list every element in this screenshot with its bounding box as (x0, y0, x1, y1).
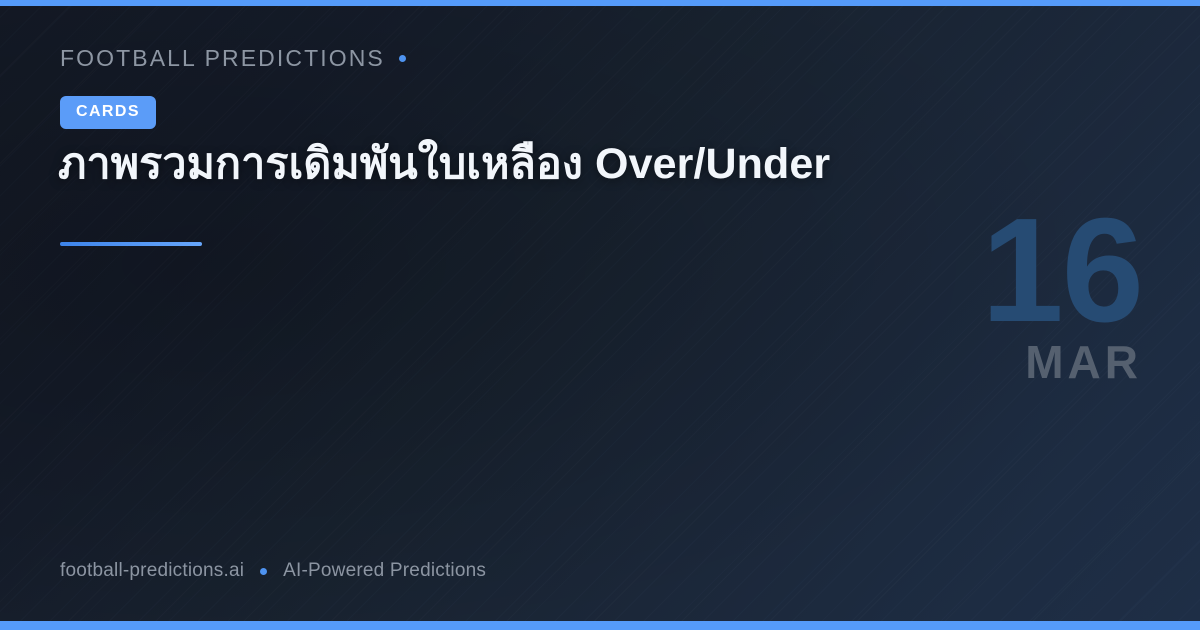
social-share-card: FOOTBALL PREDICTIONS CARDS ภาพรวมการเดิม… (0, 0, 1200, 630)
category-badge-cards[interactable]: CARDS (60, 96, 156, 129)
eyebrow-row: FOOTBALL PREDICTIONS (60, 45, 406, 72)
top-accent-bar (0, 0, 1200, 6)
footer-tagline: AI-Powered Predictions (283, 560, 486, 582)
bottom-accent-bar (0, 621, 1200, 630)
footer-site-url: football-predictions.ai (60, 560, 244, 582)
footer: football-predictions.ai AI-Powered Predi… (60, 560, 486, 582)
eyebrow-label: FOOTBALL PREDICTIONS (60, 45, 385, 72)
title-underline-accent (60, 242, 202, 246)
bullet-dot-icon (399, 55, 406, 62)
bullet-dot-icon (260, 568, 267, 575)
page-title: ภาพรวมการเดิมพันใบเหลือง Over/Under (58, 138, 958, 192)
date-day: 16 (981, 210, 1142, 331)
date-block: 16 MAR (981, 210, 1142, 385)
